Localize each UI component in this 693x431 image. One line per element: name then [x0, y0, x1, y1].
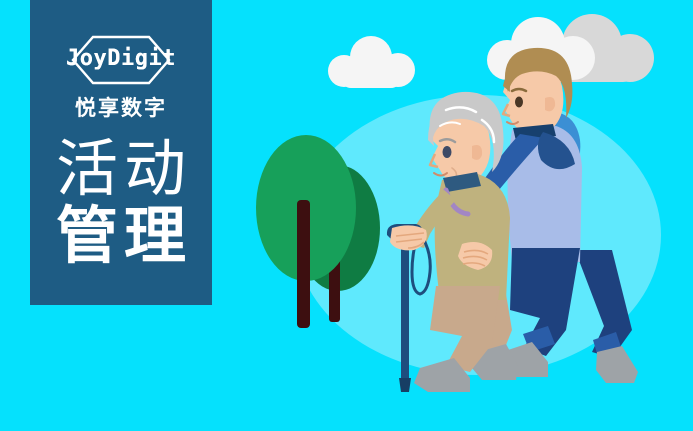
title-line-2: 管理 [30, 202, 212, 270]
woman-ear [472, 145, 482, 160]
man-eye [515, 97, 523, 108]
poster-canvas: JoyDigit 悦享数字 活动 管理 [0, 0, 693, 431]
logo-lockup: JoyDigit [30, 34, 212, 86]
tree-front-trunk [297, 200, 310, 328]
woman-eye [443, 146, 452, 158]
company-name-cn: 悦享数字 [30, 92, 212, 122]
title-line-1: 活动 [30, 136, 212, 202]
brand-block: JoyDigit 悦享数字 [30, 34, 212, 122]
logo-wordmark: JoyDigit [30, 46, 212, 72]
cane-shaft [401, 240, 409, 388]
brand-panel: JoyDigit 悦享数字 活动 管理 [30, 0, 212, 305]
cane-tip [399, 378, 411, 392]
poster-title: 活动 管理 [30, 136, 212, 270]
